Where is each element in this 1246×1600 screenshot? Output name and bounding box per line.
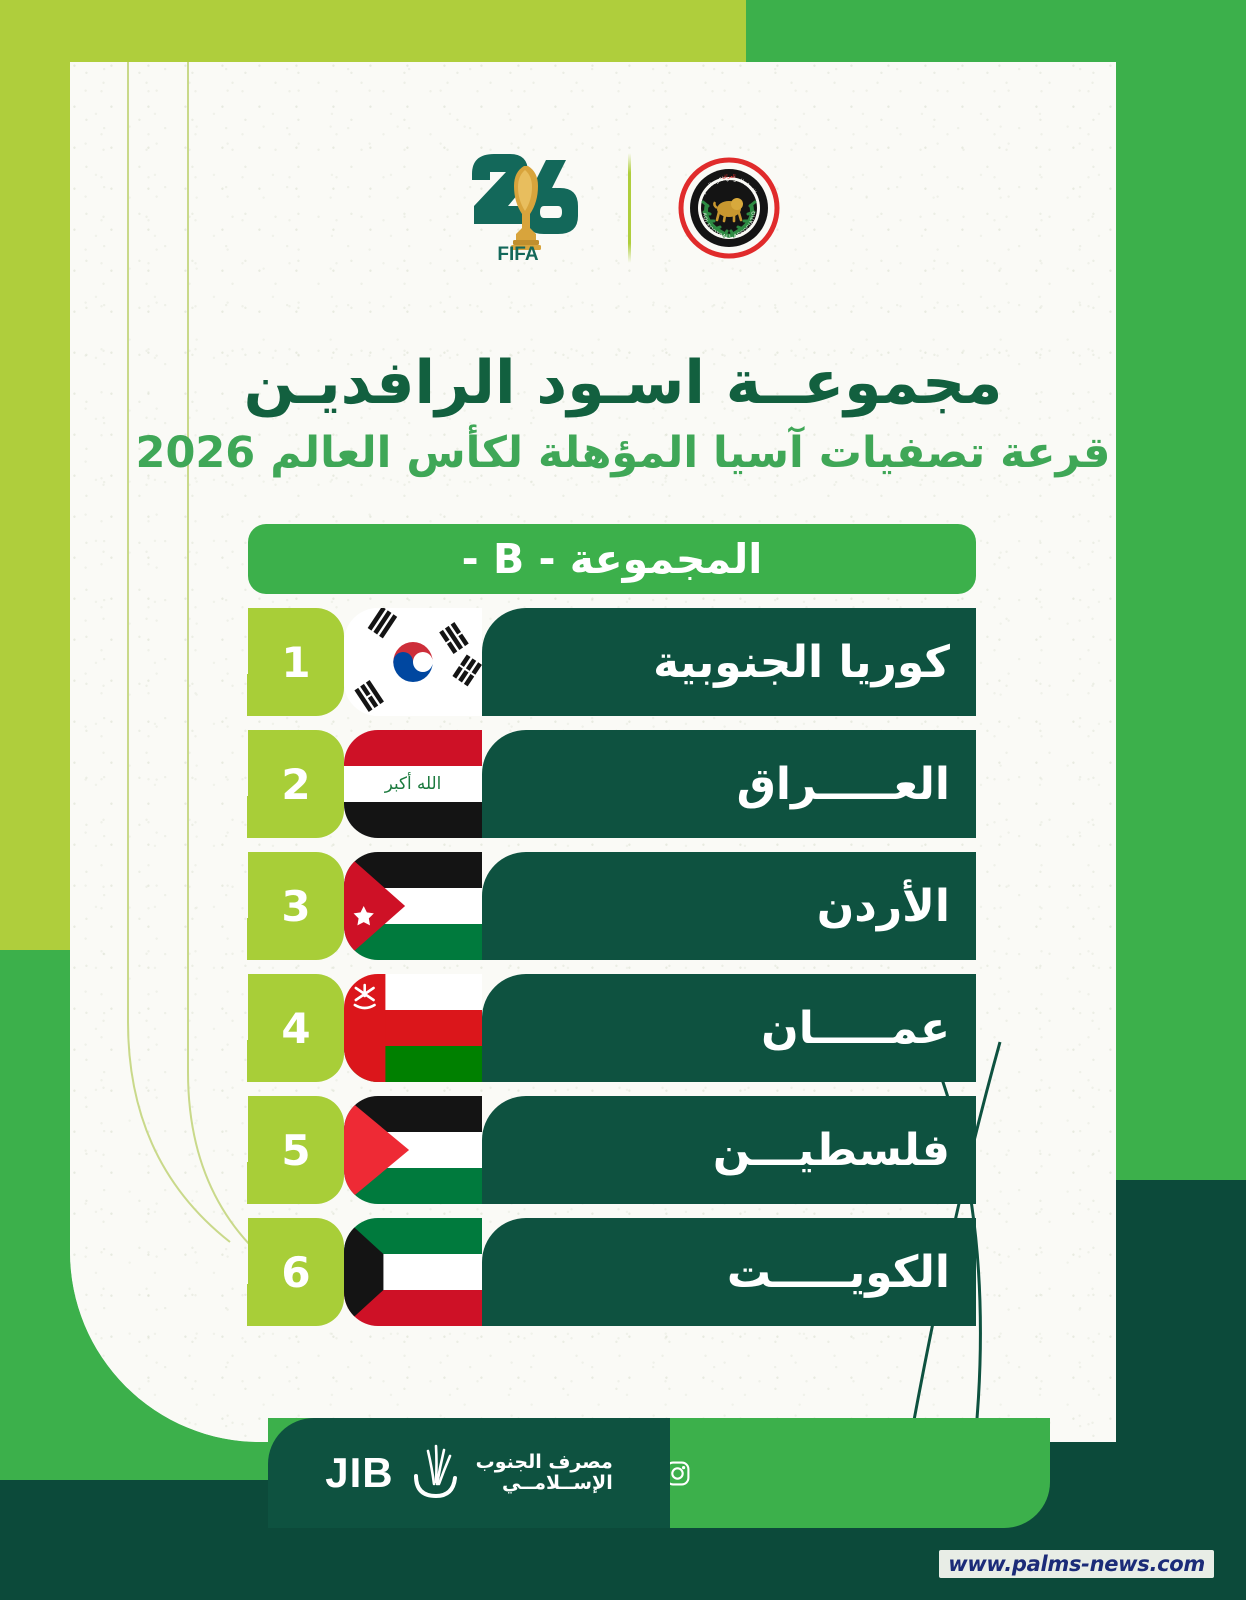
team-name: عمـــــان [761,1003,976,1054]
poster-root: FIFA [0,0,1246,1600]
kuwait-flag [344,1218,482,1326]
palestine-flag [344,1096,482,1204]
table-row[interactable]: 6 الكويـــــت [248,1218,976,1326]
bank-name: مصرف الجنوب الإســلامــي [476,1452,613,1495]
jordan-flag [344,852,482,960]
rank-badge: 1 [248,608,344,716]
team-name: كوريا الجنوبية [653,637,976,688]
bank-name-line-1: مصرف الجنوب [476,1452,613,1473]
page-subtitle: قرعة تصفيات آسيا المؤهلة لكأس العالم 202… [0,428,1246,478]
table-row[interactable]: 5 فلسطيـــن [248,1096,976,1204]
table-row[interactable]: 1 [248,608,976,716]
table-row[interactable]: 4 عمـــــان [248,974,976,1082]
logo-divider [628,153,631,263]
group-header-label: المجموعة - B - [462,535,763,583]
rank-value: 4 [281,1004,310,1053]
team-name: العـــــراق [737,759,976,810]
iraq-flag: الله أكبر [344,730,482,838]
rank-badge: 5 [248,1096,344,1204]
rank-value: 6 [281,1248,310,1297]
oman-flag [344,974,482,1082]
rank-value: 2 [281,760,310,809]
iraq-football-association-logo: الاتحاد العراقي لكرة القدم IRAQI FOOTBAL… [677,156,781,260]
bank-sponsor-block[interactable]: JIB مصرف الجنوب الإســلامــي [268,1418,670,1528]
team-name-plate: العـــــراق [482,730,976,838]
rank-badge: 6 [248,1218,344,1326]
bank-name-line-2: الإســلامــي [476,1473,613,1494]
team-name-plate: كوريا الجنوبية [482,608,976,716]
south-korea-flag [344,608,482,716]
svg-text:العراق: العراق [722,174,735,180]
rank-badge: 3 [248,852,344,960]
rank-value: 3 [281,882,310,931]
group-header-bar: المجموعة - B - [248,524,976,594]
team-name-plate: عمـــــان [482,974,976,1082]
group-table: المجموعة - B - 1 [248,524,976,1340]
logo-row: FIFA [0,148,1246,268]
rank-badge: 4 [248,974,344,1082]
fifa-26-logo: FIFA [466,148,582,268]
source-watermark: www.palms-news.com [939,1550,1214,1578]
team-name: الأردن [817,881,976,932]
svg-text:الله أكبر: الله أكبر [384,772,441,793]
team-name-plate: الأردن [482,852,976,960]
table-row[interactable]: 2 الله أكبر العـــــراق [248,730,976,838]
jib-logo-mark [406,1442,464,1504]
team-name: الكويـــــت [727,1247,976,1298]
page-title: مجموعــة اسـود الرافديـن [0,348,1246,418]
table-row[interactable]: 3 الأردن [248,852,976,960]
rank-value: 1 [281,638,310,687]
team-name-plate: فلسطيـــن [482,1096,976,1204]
team-name-plate: الكويـــــت [482,1218,976,1326]
team-name: فلسطيـــن [713,1125,976,1176]
fifa-wordmark: FIFA [497,244,538,265]
footer-bar: JIB مصرف الجنوب الإســلامــي WWW.IFA.IQ [268,1418,1050,1528]
bank-abbreviation: JIB [325,1449,393,1497]
rank-badge: 2 [248,730,344,838]
rank-value: 5 [281,1126,310,1175]
